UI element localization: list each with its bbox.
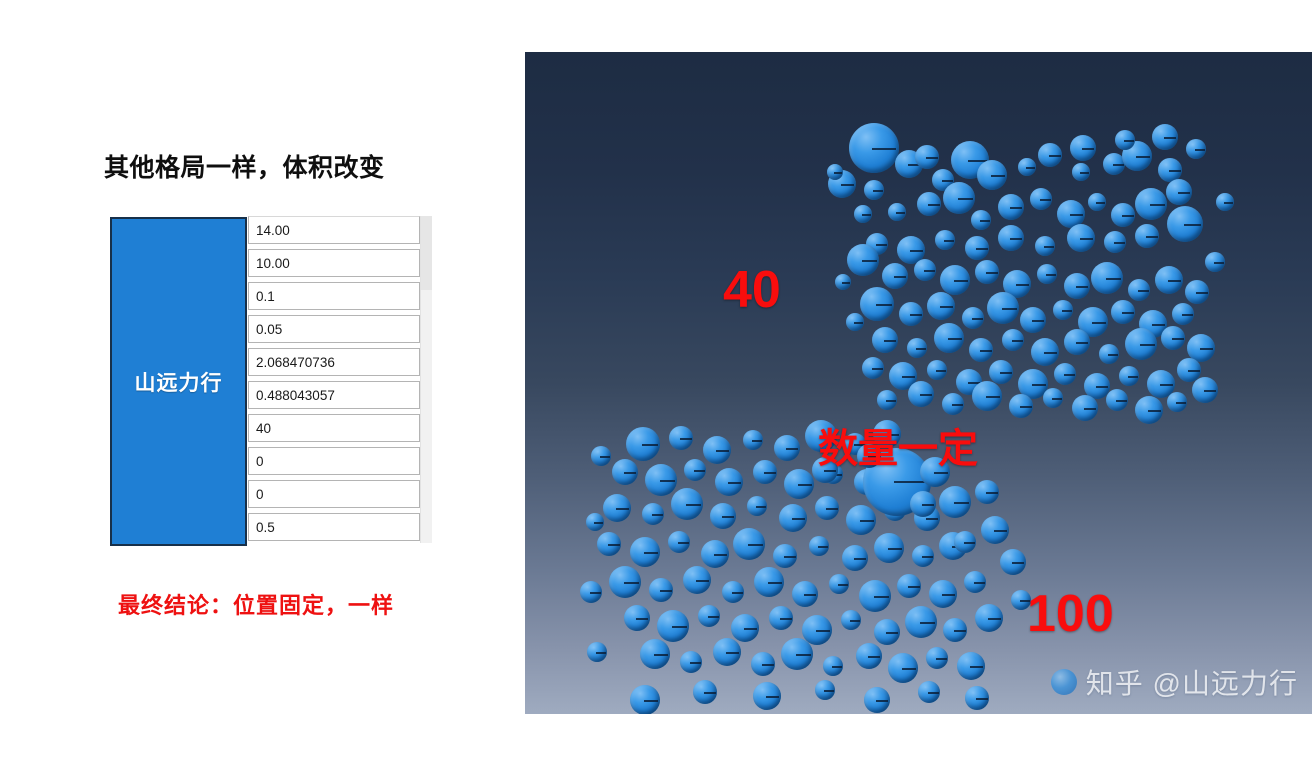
bottom-cluster-bubble <box>842 545 868 571</box>
bottom-cluster-bubble <box>846 505 876 535</box>
parameter-field-7[interactable]: 0 <box>248 447 420 475</box>
top-cluster-bubble <box>969 338 993 362</box>
bottom-cluster-bubble <box>751 652 775 676</box>
top-cluster-bubble <box>1067 224 1095 252</box>
parameter-field-1[interactable]: 10.00 <box>248 249 420 277</box>
bottom-cluster-bubble <box>715 468 743 496</box>
bottom-cluster-bubble <box>888 653 918 683</box>
parameter-field-2[interactable]: 0.1 <box>248 282 420 310</box>
bottom-cluster-bubble <box>965 686 989 710</box>
bottom-cluster-bubble <box>792 581 818 607</box>
bottom-cluster-bubble <box>722 581 744 603</box>
top-cluster-bubble <box>1135 396 1163 424</box>
bottom-cluster-bubble <box>630 537 660 567</box>
bottom-cluster-bubble <box>713 638 741 666</box>
top-cluster-bubble <box>1185 280 1209 304</box>
top-cluster-bubble <box>882 263 908 289</box>
top-cluster-bubble <box>1038 143 1062 167</box>
bottom-cluster-bubble <box>710 503 736 529</box>
parameter-field-list[interactable]: 14.0010.000.10.052.0684707360.4880430574… <box>248 216 420 546</box>
top-cluster-bubble <box>827 164 843 180</box>
bottom-cluster-bubble <box>733 528 765 560</box>
parameter-field-8[interactable]: 0 <box>248 480 420 508</box>
parameter-value: 14.00 <box>256 223 290 238</box>
top-cluster-bubble <box>989 360 1013 384</box>
top-cluster-count-label: 40 <box>723 260 781 320</box>
page-title: 其他格局一样，体积改变 <box>104 148 385 184</box>
bottom-cluster-bubble <box>703 436 731 464</box>
bottom-cluster-bubble <box>701 540 729 568</box>
top-cluster-bubble <box>935 230 955 250</box>
bottom-cluster-bubble <box>603 494 631 522</box>
top-cluster-bubble <box>908 381 934 407</box>
top-cluster-bubble <box>943 182 975 214</box>
top-cluster-bubble <box>1072 163 1090 181</box>
brand-label: 山远力行 <box>135 367 223 397</box>
top-cluster-bubble <box>849 123 899 173</box>
bottom-cluster-bubble <box>668 531 690 553</box>
top-cluster-bubble <box>864 180 884 200</box>
top-cluster-bubble <box>914 259 936 281</box>
top-cluster-bubble <box>1111 300 1135 324</box>
bottom-cluster-bubble <box>753 682 781 710</box>
top-cluster-bubble <box>854 205 872 223</box>
bottom-cluster-bubble <box>591 446 611 466</box>
bottom-cluster-bubble <box>784 469 814 499</box>
left-pane: 其他格局一样，体积改变 山远力行 14.0010.000.10.052.0684… <box>0 0 520 764</box>
parameter-value: 0.05 <box>256 322 282 337</box>
middle-note-label: 数量一定 <box>818 416 978 474</box>
bottom-cluster-bubble <box>743 430 763 450</box>
bottom-cluster-bubble <box>781 638 813 670</box>
bottom-cluster-bubble <box>731 614 759 642</box>
bottom-cluster-bubble <box>624 605 650 631</box>
parameter-value: 0 <box>256 454 264 469</box>
bottom-cluster-bubble <box>815 496 839 520</box>
top-cluster-bubble <box>915 145 939 169</box>
parameter-value: 0.488043057 <box>256 388 335 403</box>
top-cluster-bubble <box>1020 307 1046 333</box>
top-cluster-bubble <box>847 244 879 276</box>
scrollbar-thumb[interactable] <box>421 216 432 290</box>
bottom-cluster-bubble <box>597 532 621 556</box>
bottom-cluster-bubble <box>779 504 807 532</box>
top-cluster-bubble <box>971 210 991 230</box>
parameter-value: 0.1 <box>256 289 275 304</box>
bottom-cluster-bubble <box>649 578 673 602</box>
top-cluster-bubble <box>972 381 1002 411</box>
top-cluster-bubble <box>1002 329 1024 351</box>
bottom-cluster-bubble <box>747 496 767 516</box>
top-cluster-bubble <box>934 323 964 353</box>
top-cluster-bubble <box>977 160 1007 190</box>
bottom-cluster-bubble <box>864 687 890 713</box>
bottom-cluster-bubble <box>912 545 934 567</box>
bottom-cluster-bubble <box>642 503 664 525</box>
top-cluster-bubble <box>1161 326 1185 350</box>
top-cluster-bubble <box>1030 188 1052 210</box>
top-cluster-bubble <box>1125 328 1157 360</box>
parameter-field-3[interactable]: 0.05 <box>248 315 420 343</box>
bottom-cluster-bubble <box>975 480 999 504</box>
parameter-field-0[interactable]: 14.00 <box>248 216 420 244</box>
bottom-cluster-bubble <box>630 685 660 714</box>
top-cluster-bubble <box>1186 139 1206 159</box>
bottom-cluster-bubble <box>926 647 948 669</box>
zhihu-logo-icon <box>1051 669 1077 695</box>
bottom-cluster-bubble <box>626 427 660 461</box>
top-cluster-bubble <box>1099 344 1119 364</box>
top-cluster-bubble <box>1216 193 1234 211</box>
top-cluster-bubble <box>1054 363 1076 385</box>
top-cluster-bubble <box>1152 124 1178 150</box>
bottom-cluster-bubble <box>693 680 717 704</box>
top-cluster-bubble <box>1205 252 1225 272</box>
top-cluster-bubble <box>1031 338 1059 366</box>
top-cluster-bubble <box>998 194 1024 220</box>
bottom-cluster-bubble <box>684 459 706 481</box>
bottom-cluster-bubble <box>754 567 784 597</box>
bottom-cluster-bubble <box>773 544 797 568</box>
top-cluster-bubble <box>965 236 989 260</box>
bottom-cluster-bubble <box>612 459 638 485</box>
parameter-value: 0 <box>256 487 264 502</box>
top-cluster-bubble <box>1037 264 1057 284</box>
parameter-value: 10.00 <box>256 256 290 271</box>
top-cluster-bubble <box>1009 394 1033 418</box>
top-cluster-bubble <box>1192 377 1218 403</box>
bottom-cluster-bubble <box>657 610 689 642</box>
top-cluster-bubble <box>1053 300 1073 320</box>
top-cluster-bubble <box>1091 262 1123 294</box>
bottom-cluster-bubble <box>769 606 793 630</box>
watermark-text: 知乎 @山远力行 <box>1086 662 1298 702</box>
watermark: 知乎 @山远力行 <box>1051 662 1298 702</box>
top-cluster-bubble <box>940 265 970 295</box>
bottom-cluster-bubble <box>671 488 703 520</box>
top-cluster-bubble <box>1167 206 1203 242</box>
bottom-cluster-bubble <box>964 571 986 593</box>
parameter-value: 0.5 <box>256 520 275 535</box>
bottom-cluster-bubble <box>823 656 843 676</box>
bottom-cluster-bubble <box>981 516 1009 544</box>
top-cluster-bubble <box>899 302 923 326</box>
bottom-cluster-bubble <box>645 464 677 496</box>
top-cluster-bubble <box>975 260 999 284</box>
bottom-cluster-bubble <box>856 643 882 669</box>
bottom-cluster-bubble <box>954 531 976 553</box>
bottom-cluster-bubble <box>874 619 900 645</box>
bottom-cluster-bubble <box>829 574 849 594</box>
top-cluster-bubble <box>1111 203 1135 227</box>
bottom-cluster-bubble <box>587 642 607 662</box>
bottom-cluster-bubble <box>929 580 957 608</box>
parameter-value: 2.068470736 <box>256 355 335 370</box>
top-cluster-bubble <box>1064 273 1090 299</box>
bottom-cluster-bubble <box>859 580 891 612</box>
top-cluster-bubble <box>1172 303 1194 325</box>
bottom-cluster-bubble <box>640 639 670 669</box>
top-cluster-bubble <box>862 357 884 379</box>
top-cluster-bubble <box>917 192 941 216</box>
top-cluster-bubble <box>872 327 898 353</box>
bottom-cluster-bubble <box>669 426 693 450</box>
bottom-cluster-bubble <box>943 618 967 642</box>
bottom-cluster-bubble <box>580 581 602 603</box>
bottom-cluster-bubble <box>841 610 861 630</box>
top-cluster-bubble <box>927 292 955 320</box>
bottom-cluster-bubble <box>957 652 985 680</box>
top-cluster-bubble <box>998 225 1024 251</box>
bottom-cluster-bubble <box>680 651 702 673</box>
conclusion-text: 最终结论：位置固定，一样 <box>118 588 394 620</box>
bottom-cluster-bubble <box>1000 549 1026 575</box>
top-cluster-bubble <box>1106 389 1128 411</box>
top-cluster-bubble <box>1119 366 1139 386</box>
top-cluster-bubble <box>1128 279 1150 301</box>
simulation-viewport[interactable]: 40 数量一定 100 知乎 @山远力行 <box>525 52 1312 714</box>
bottom-cluster-bubble <box>910 491 936 517</box>
top-cluster-bubble <box>962 307 984 329</box>
top-cluster-bubble <box>907 338 927 358</box>
bottom-cluster-bubble <box>918 681 940 703</box>
top-cluster-bubble <box>1135 224 1159 248</box>
bottom-cluster-bubble <box>586 513 604 531</box>
top-cluster-bubble <box>1115 130 1135 150</box>
top-cluster-bubble <box>1064 329 1090 355</box>
bottom-cluster-bubble <box>897 574 921 598</box>
bottom-cluster-bubble <box>698 605 720 627</box>
top-cluster-bubble <box>1072 395 1098 421</box>
top-cluster-bubble <box>846 313 864 331</box>
parameter-field-4[interactable]: 2.068470736 <box>248 348 420 376</box>
top-cluster-bubble <box>1070 135 1096 161</box>
top-cluster-bubble <box>1104 231 1126 253</box>
top-cluster-bubble <box>1155 266 1183 294</box>
bottom-cluster-bubble <box>683 566 711 594</box>
top-cluster-bubble <box>1018 158 1036 176</box>
bottom-cluster-bubble <box>939 486 971 518</box>
top-cluster-bubble <box>888 203 906 221</box>
field-list-scrollbar[interactable] <box>420 216 432 543</box>
bottom-cluster-bubble <box>874 533 904 563</box>
bottom-cluster-bubble <box>753 460 777 484</box>
brand-block: 山远力行 <box>110 217 247 546</box>
top-cluster-bubble <box>1088 193 1106 211</box>
bottom-cluster-bubble <box>815 680 835 700</box>
top-cluster-bubble <box>1135 188 1167 220</box>
parameter-field-6[interactable]: 40 <box>248 414 420 442</box>
top-cluster-bubble <box>987 292 1019 324</box>
top-cluster-bubble <box>835 274 851 290</box>
bottom-cluster-count-label: 100 <box>1027 584 1114 644</box>
top-cluster-bubble <box>860 287 894 321</box>
parameter-value: 40 <box>256 421 271 436</box>
bottom-cluster-bubble <box>975 604 1003 632</box>
bottom-cluster-bubble <box>809 536 829 556</box>
top-cluster-bubble <box>927 360 947 380</box>
top-cluster-bubble <box>942 393 964 415</box>
top-cluster-bubble <box>1166 179 1192 205</box>
top-cluster-bubble <box>1167 392 1187 412</box>
parameter-field-9[interactable]: 0.5 <box>248 513 420 541</box>
top-cluster-bubble <box>877 390 897 410</box>
bottom-cluster-bubble <box>609 566 641 598</box>
top-cluster-bubble <box>1043 388 1063 408</box>
bottom-cluster-bubble <box>774 435 800 461</box>
top-cluster-bubble <box>1035 236 1055 256</box>
parameter-field-5[interactable]: 0.488043057 <box>248 381 420 409</box>
bottom-cluster-bubble <box>905 606 937 638</box>
